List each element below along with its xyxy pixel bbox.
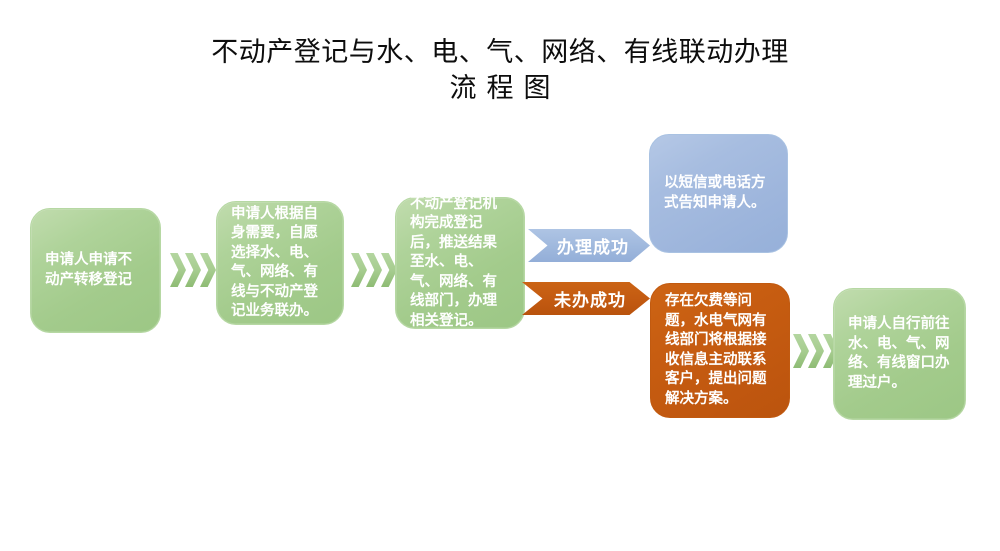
branch-label-success-text: 办理成功 [557, 233, 629, 258]
flow-node-notify-applicant-label: 以短信或电话方式告知申请人。 [650, 174, 787, 213]
title-line-1: 不动产登记与水、电、气、网络、有线联动办理 [0, 34, 1000, 70]
flow-node-apply-label: 申请人申请不动产转移登记 [31, 251, 160, 290]
flow-node-push-result-label: 不动产登记机构完成登记后，推送结果至水、电、气、网络、有线部门，办理相关登记。 [396, 195, 524, 332]
flow-node-apply[interactable]: 申请人申请不动产转移登记 [30, 208, 161, 333]
chevron-right-icon [793, 334, 809, 368]
flow-node-push-result[interactable]: 不动产登记机构完成登记后，推送结果至水、电、气、网络、有线部门，办理相关登记。 [395, 197, 525, 329]
title-line-2: 流程图 [0, 70, 1000, 106]
chevron-right-icon [808, 334, 824, 368]
chevron-right-icon [170, 253, 186, 287]
branch-label-failure[interactable]: 未办成功 [522, 282, 650, 315]
flow-node-self-service-window[interactable]: 申请人自行前往水、电、气、网络、有线窗口办理过户。 [833, 288, 966, 420]
chevron-right-icon [185, 253, 201, 287]
chevron-right-icon [351, 253, 367, 287]
flow-node-arrears-contact[interactable]: 存在欠费等问题，水电气网有线部门将根据接收信息主动联系客户，提出问题解决方案。 [650, 283, 790, 418]
flow-node-choose-joint[interactable]: 申请人根据自身需要，自愿选择水、电、气、网络、有线与不动产登记业务联办。 [216, 201, 344, 325]
flow-node-choose-joint-label: 申请人根据自身需要，自愿选择水、电、气、网络、有线与不动产登记业务联办。 [217, 205, 343, 322]
branch-label-success[interactable]: 办理成功 [528, 229, 650, 262]
connector-apply-to-choose [170, 253, 215, 287]
chevron-right-icon [366, 253, 382, 287]
flow-node-self-service-window-label: 申请人自行前往水、电、气、网络、有线窗口办理过户。 [834, 315, 965, 393]
flow-node-arrears-contact-label: 存在欠费等问题，水电气网有线部门将根据接收信息主动联系客户，提出问题解决方案。 [651, 292, 789, 409]
flow-node-notify-applicant[interactable]: 以短信或电话方式告知申请人。 [649, 134, 788, 253]
connector-arrears-to-window [793, 334, 838, 368]
flowchart-canvas: 不动产登记与水、电、气、网络、有线联动办理 流程图 申请人申请不动产转移登记 申… [0, 0, 1000, 551]
branch-label-failure-text: 未办成功 [554, 286, 626, 311]
chevron-right-icon [200, 253, 216, 287]
page-title: 不动产登记与水、电、气、网络、有线联动办理 流程图 [0, 34, 1000, 106]
connector-choose-to-push [351, 253, 396, 287]
